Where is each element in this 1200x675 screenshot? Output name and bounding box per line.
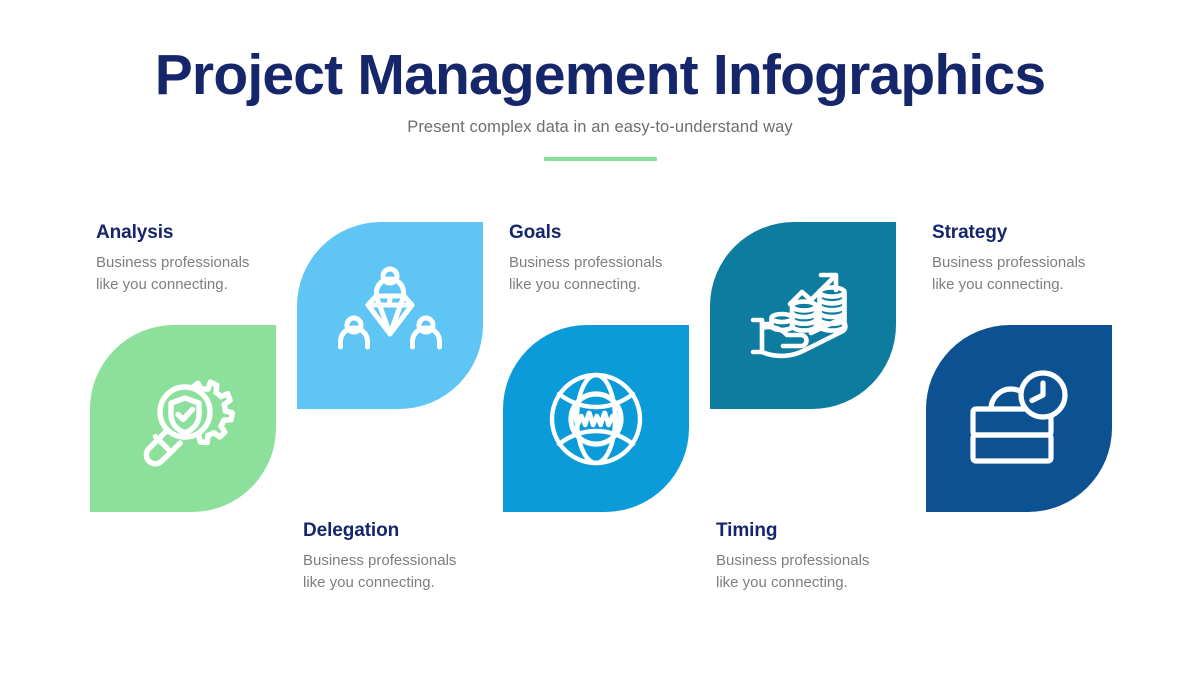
card-description: Business professionals like you connecti… xyxy=(96,244,306,297)
card-description: Business professionals like you connecti… xyxy=(932,244,1142,297)
card-icon-tile[interactable] xyxy=(503,325,689,512)
card-title: Delegation xyxy=(303,520,513,542)
diamond-team-icon xyxy=(338,264,442,368)
card-title: Strategy xyxy=(932,222,1142,244)
card-title: Timing xyxy=(716,520,926,542)
card-icon-tile[interactable] xyxy=(926,325,1112,512)
card-text-block: Goals Business professionals like you co… xyxy=(509,222,719,297)
card-description: Business professionals like you connecti… xyxy=(716,542,926,595)
card-description: Business professionals like you connecti… xyxy=(509,244,719,297)
card-text-block: Strategy Business professionals like you… xyxy=(932,222,1142,297)
page-title: Project Management Infographics xyxy=(0,0,1200,106)
www-globe-icon xyxy=(543,366,649,472)
card-icon-tile[interactable] xyxy=(297,222,483,409)
page-subtitle: Present complex data in an easy-to-under… xyxy=(0,106,1200,137)
infographic-card-strategy[interactable]: Strategy Business professionals like you… xyxy=(926,222,1112,622)
infographic-card-delegation[interactable]: Delegation Business professionals like y… xyxy=(297,222,483,622)
card-text-block: Delegation Business professionals like y… xyxy=(303,520,513,595)
infographic-board: Analysis Business professionals like you… xyxy=(90,222,1112,622)
card-text-block: Timing Business professionals like you c… xyxy=(716,520,926,595)
infographic-card-goals[interactable]: Goals Business professionals like you co… xyxy=(503,222,689,622)
card-description: Business professionals like you connecti… xyxy=(303,542,513,595)
card-title: Goals xyxy=(509,222,719,244)
header: Project Management Infographics Present … xyxy=(0,0,1200,161)
hand-coins-growth-icon xyxy=(749,264,857,368)
card-icon-tile[interactable] xyxy=(710,222,896,409)
card-text-block: Analysis Business professionals like you… xyxy=(96,222,306,297)
infographic-card-timing[interactable]: Timing Business professionals like you c… xyxy=(710,222,896,622)
card-title: Analysis xyxy=(96,222,306,244)
archive-box-clock-icon xyxy=(965,369,1073,469)
accent-divider xyxy=(544,157,657,161)
card-icon-tile[interactable] xyxy=(90,325,276,512)
infographic-card-analysis[interactable]: Analysis Business professionals like you… xyxy=(90,222,276,622)
magnifier-gear-check-icon xyxy=(131,367,235,471)
